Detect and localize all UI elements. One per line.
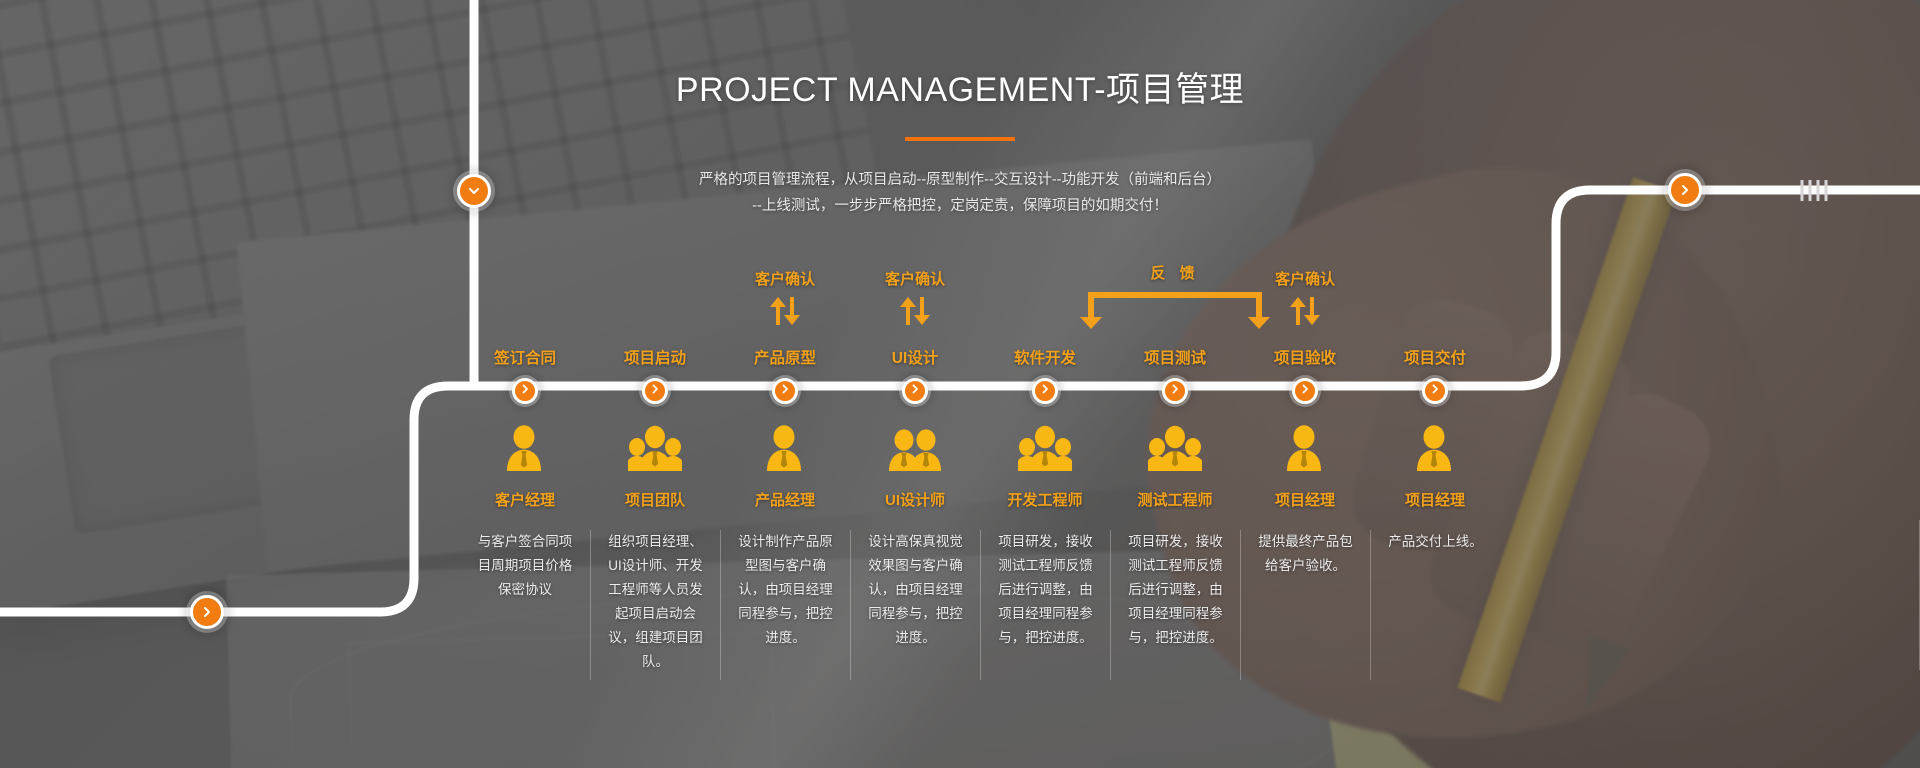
three-people-icon <box>1018 423 1072 480</box>
stage-label: 项目测试 <box>1110 346 1240 372</box>
stage-dot-wrap <box>1240 372 1370 418</box>
role-label: 项目经理 <box>1240 489 1370 510</box>
stage-description: 组织项目经理、UI设计师、开发工程师等人员发起项目启动会议，组建项目团队。 <box>590 530 720 680</box>
up-down-arrows-icon <box>768 296 802 331</box>
stage-dot[interactable] <box>1422 378 1448 404</box>
stage-label: UI设计 <box>850 346 980 372</box>
page-title: PROJECT MANAGEMENT-项目管理 <box>0 62 1920 111</box>
role-avatar <box>590 418 720 480</box>
chevron-right-icon <box>649 382 661 400</box>
timeline-columns: 签订合同客户经理与客户签合同项目周期项目价格保密协议项目启动项目团队组织项目经理… <box>460 268 1500 768</box>
stage-dot-wrap <box>850 372 980 418</box>
subtitle-line-1: 严格的项目管理流程，从项目启动--原型制作--交互设计--功能开发（前端和后台） <box>0 167 1920 193</box>
stage-dot[interactable] <box>1292 378 1318 404</box>
role-label: 项目经理 <box>1370 489 1500 510</box>
role-avatar <box>1370 418 1500 480</box>
single-person-icon <box>758 423 812 480</box>
stage-dot-wrap <box>1370 372 1500 418</box>
timeline-stage-5[interactable]: 软件开发开发工程师项目研发，接收测试工程师反馈后进行调整，由项目经理同程参与，把… <box>980 268 1110 768</box>
three-people-icon <box>1148 423 1202 480</box>
role-avatar <box>1110 418 1240 480</box>
role-avatar <box>720 418 850 480</box>
timeline-stage-1[interactable]: 签订合同客户经理与客户签合同项目周期项目价格保密协议 <box>460 268 590 768</box>
stage-description: 项目研发，接收测试工程师反馈后进行调整，由项目经理同程参与，把控进度。 <box>1110 530 1240 680</box>
stage-label: 项目交付 <box>1370 346 1500 372</box>
timeline-stage-6[interactable]: 项目测试测试工程师项目研发，接收测试工程师反馈后进行调整，由项目经理同程参与，把… <box>1110 268 1240 768</box>
stage-annotation: 客户确认 <box>720 268 850 346</box>
timeline-stage-7[interactable]: 客户确认项目验收项目经理提供最终产品包给客户验收。 <box>1240 268 1370 768</box>
chevron-right-icon <box>1169 382 1181 400</box>
stage-annotation <box>1370 268 1500 346</box>
stage-dot[interactable] <box>772 378 798 404</box>
confirm-label: 客户确认 <box>850 268 980 289</box>
stage-description: 设计制作产品原型图与客户确认，由项目经理同程参与，把控进度。 <box>720 530 850 680</box>
title-underline <box>905 137 1015 141</box>
single-person-icon <box>498 423 552 480</box>
two-people-icon <box>888 423 942 480</box>
stage-dot[interactable] <box>1032 378 1058 404</box>
role-avatar <box>850 418 980 480</box>
chevron-right-icon <box>1429 382 1441 400</box>
stage-label: 软件开发 <box>980 346 1110 372</box>
stage-label: 项目启动 <box>590 346 720 372</box>
confirm-label: 客户确认 <box>720 268 850 289</box>
role-avatar <box>460 418 590 480</box>
role-label: 产品经理 <box>720 489 850 510</box>
role-label: UI设计师 <box>850 489 980 510</box>
role-label: 开发工程师 <box>980 489 1110 510</box>
role-label: 项目团队 <box>590 489 720 510</box>
page-header: PROJECT MANAGEMENT-项目管理 严格的项目管理流程，从项目启动-… <box>0 62 1920 219</box>
project-timeline: 签订合同客户经理与客户签合同项目周期项目价格保密协议项目启动项目团队组织项目经理… <box>0 268 1920 768</box>
role-avatar <box>980 418 1110 480</box>
subtitle-line-2: --上线测试，一步步严格把控，定岗定责，保障项目的如期交付！ <box>0 193 1920 219</box>
stage-description: 产品交付上线。 <box>1370 530 1500 680</box>
single-person-icon <box>1408 423 1462 480</box>
stage-dot[interactable] <box>1162 378 1188 404</box>
stage-dot-wrap <box>980 372 1110 418</box>
three-people-icon <box>628 423 682 480</box>
up-down-arrows-icon <box>898 296 932 331</box>
chevron-right-icon <box>909 382 921 400</box>
timeline-stage-2[interactable]: 项目启动项目团队组织项目经理、UI设计师、开发工程师等人员发起项目启动会议，组建… <box>590 268 720 768</box>
chevron-right-icon <box>1299 382 1311 400</box>
stage-dot-wrap <box>720 372 850 418</box>
stage-annotation <box>590 268 720 346</box>
stage-description: 提供最终产品包给客户验收。 <box>1240 530 1370 680</box>
feedback-label: 反 馈 <box>1045 262 1305 283</box>
feedback-bracket <box>1045 289 1305 329</box>
confirm-arrows <box>850 296 980 331</box>
stage-annotation: 客户确认 <box>850 268 980 346</box>
bracket-down-arrows-icon <box>1079 289 1271 329</box>
stage-dot[interactable] <box>902 378 928 404</box>
chevron-right-icon <box>519 382 531 400</box>
timeline-stage-4[interactable]: 客户确认UI设计UI设计师设计高保真视觉效果图与客户确认，由项目经理同程参与，把… <box>850 268 980 768</box>
role-avatar <box>1240 418 1370 480</box>
chevron-right-icon <box>779 382 791 400</box>
page-subtitle: 严格的项目管理流程，从项目启动--原型制作--交互设计--功能开发（前端和后台）… <box>0 167 1920 219</box>
stage-dot-wrap <box>460 372 590 418</box>
stage-label: 产品原型 <box>720 346 850 372</box>
feedback-annotation: 反 馈 <box>1045 262 1305 329</box>
stage-label: 签订合同 <box>460 346 590 372</box>
stage-label: 项目验收 <box>1240 346 1370 372</box>
timeline-stage-8[interactable]: 项目交付项目经理产品交付上线。 <box>1370 268 1500 768</box>
role-label: 客户经理 <box>460 489 590 510</box>
chevron-right-icon <box>1039 382 1051 400</box>
timeline-stage-3[interactable]: 客户确认产品原型产品经理设计制作产品原型图与客户确认，由项目经理同程参与，把控进… <box>720 268 850 768</box>
stage-description: 项目研发，接收测试工程师反馈后进行调整，由项目经理同程参与，把控进度。 <box>980 530 1110 680</box>
stage-dot-wrap <box>1110 372 1240 418</box>
stage-annotation <box>460 268 590 346</box>
stage-dot[interactable] <box>642 378 668 404</box>
confirm-arrows <box>720 296 850 331</box>
single-person-icon <box>1278 423 1332 480</box>
stage-description: 设计高保真视觉效果图与客户确认，由项目经理同程参与，把控进度。 <box>850 530 980 680</box>
stage-description: 与客户签合同项目周期项目价格保密协议 <box>460 530 590 680</box>
stage-dot[interactable] <box>512 378 538 404</box>
role-label: 测试工程师 <box>1110 489 1240 510</box>
stage-dot-wrap <box>590 372 720 418</box>
